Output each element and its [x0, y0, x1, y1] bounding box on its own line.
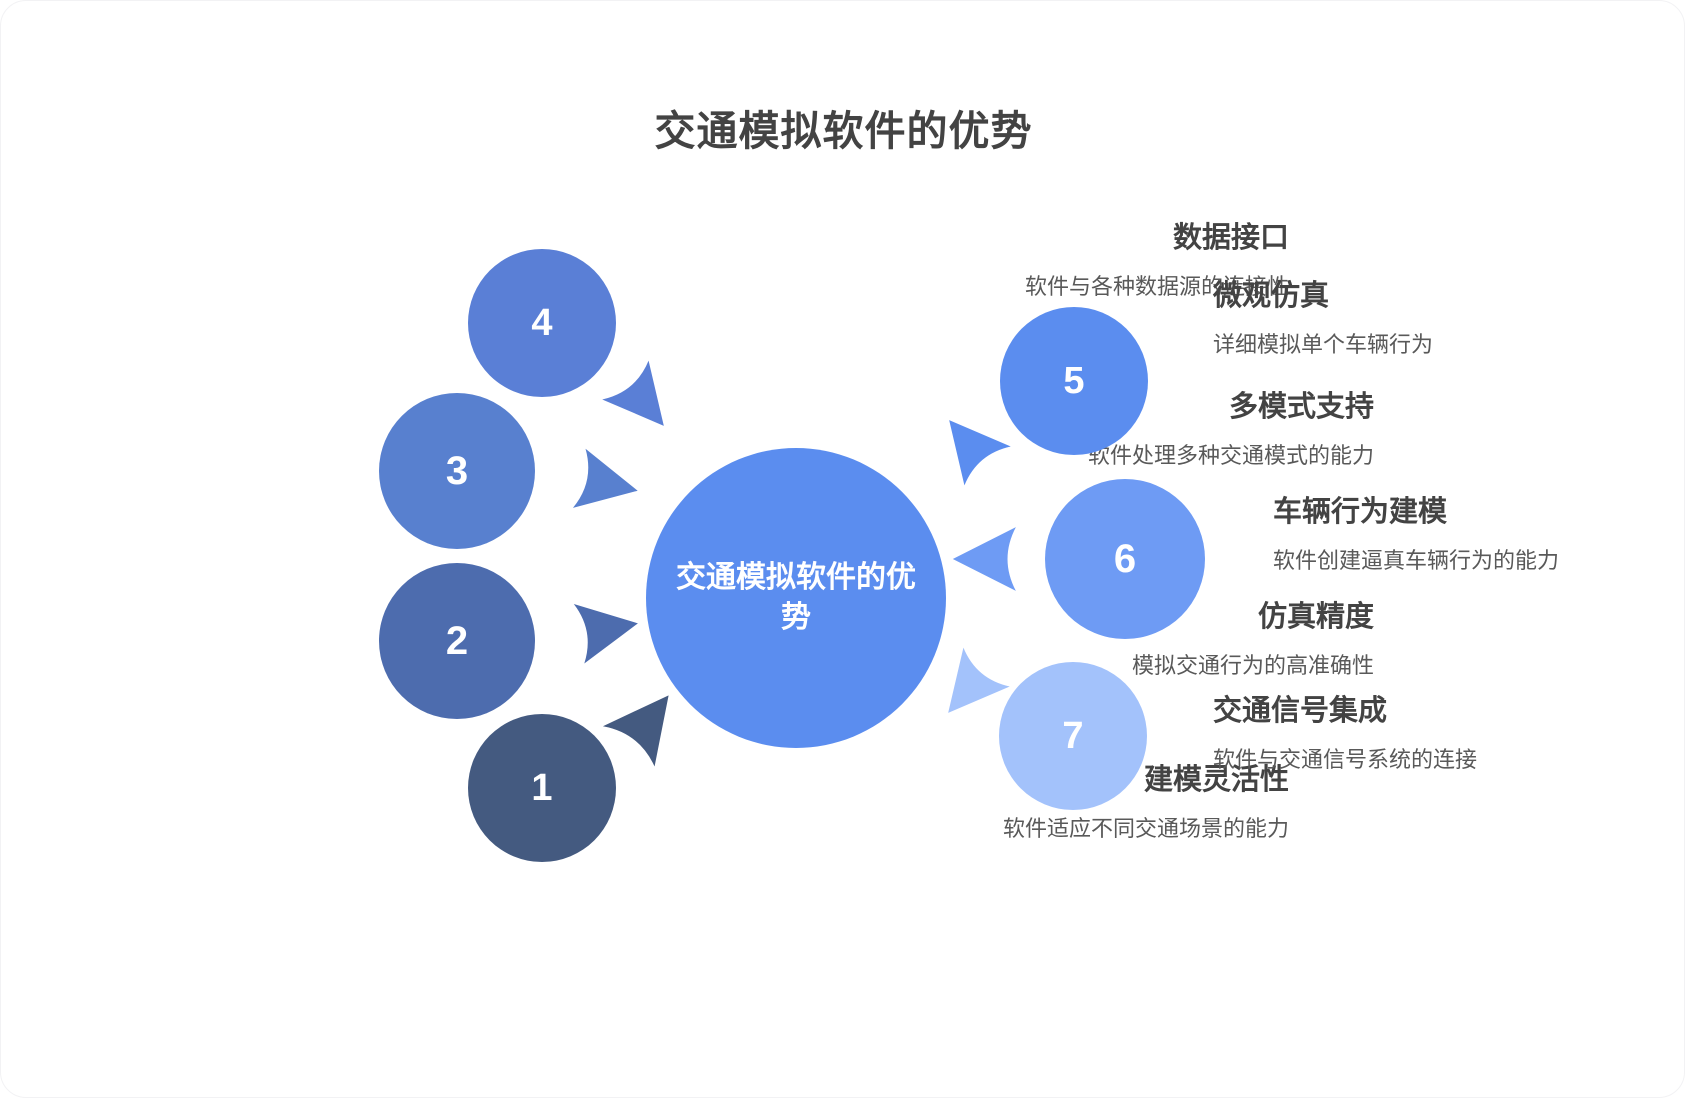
node-number-2: 2 — [446, 621, 468, 661]
radial-diagram: 交通模拟软件的优势 1建模灵活性软件适应不同交通场景的能力2仿真精度模拟交通行为… — [1, 1, 1685, 1098]
node-text-block-7: 交通信号集成软件与交通信号系统的连接 — [1213, 693, 1513, 776]
node-description-2: 模拟交通行为的高准确性 — [1084, 650, 1374, 682]
center-hub: 交通模拟软件的优势 — [646, 448, 946, 748]
node-circle-4[interactable]: 4 — [468, 249, 616, 397]
connector-arrow-4 — [592, 350, 693, 451]
node-number-5: 5 — [1063, 362, 1084, 400]
node-circle-3[interactable]: 3 — [379, 393, 535, 549]
node-title-5: 微观仿真 — [1213, 278, 1513, 316]
node-circle-7[interactable]: 7 — [999, 662, 1147, 810]
node-circle-2[interactable]: 2 — [379, 563, 535, 719]
node-description-1: 软件适应不同交通场景的能力 — [999, 813, 1289, 845]
node-title-7: 交通信号集成 — [1213, 693, 1513, 731]
connector-arrow-2 — [564, 587, 647, 670]
node-number-1: 1 — [531, 769, 552, 807]
center-hub-label: 交通模拟软件的优势 — [676, 558, 916, 637]
node-number-6: 6 — [1114, 539, 1136, 579]
node-title-6: 车辆行为建模 — [1273, 494, 1593, 532]
node-number-3: 3 — [446, 451, 468, 491]
node-description-6: 软件创建逼真车辆行为的能力 — [1273, 545, 1593, 577]
node-text-block-6: 车辆行为建模软件创建逼真车辆行为的能力 — [1273, 494, 1593, 577]
connector-arrow-6 — [949, 521, 1025, 597]
node-circle-1[interactable]: 1 — [468, 714, 616, 862]
node-description-3: 软件处理多种交通模式的能力 — [1084, 440, 1374, 472]
node-number-4: 4 — [531, 304, 552, 342]
node-text-block-5: 微观仿真详细模拟单个车辆行为 — [1213, 278, 1513, 361]
node-title-4: 数据接口 — [999, 220, 1289, 258]
node-circle-5[interactable]: 5 — [1000, 307, 1148, 455]
node-description-5: 详细模拟单个车辆行为 — [1213, 329, 1513, 361]
infographic-canvas: 交通模拟软件的优势 交通模拟软件的优势 1建模灵活性软件适应不同交通场景的能力2… — [0, 0, 1685, 1098]
connector-arrow-3 — [563, 441, 648, 526]
node-description-7: 软件与交通信号系统的连接 — [1213, 744, 1513, 776]
node-circle-6[interactable]: 6 — [1045, 479, 1205, 639]
node-number-7: 7 — [1062, 717, 1083, 755]
